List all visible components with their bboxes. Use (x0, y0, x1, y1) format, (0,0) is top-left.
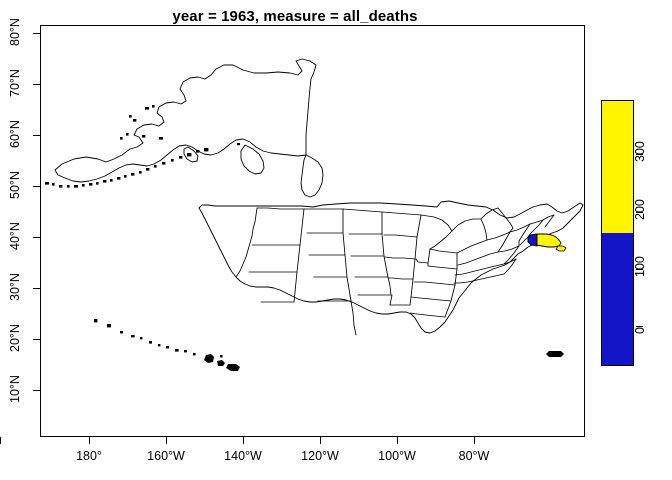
y-tick-mark (33, 390, 40, 391)
puerto-rico (546, 351, 564, 357)
legend-tick-label: 100 (633, 247, 647, 277)
x-tick-label: 120°W (301, 449, 339, 463)
legend-tick-label: 0 (633, 304, 647, 334)
state-boundaries (236, 208, 554, 335)
us-map (40, 25, 585, 437)
x-tick-mark (320, 437, 321, 444)
y-tick-label: 70°N (8, 68, 22, 98)
x-tick-mark (397, 437, 398, 444)
y-tick-label: 60°N (8, 119, 22, 149)
y-tick-label: 80°N (8, 17, 22, 47)
x-tick-mark (474, 437, 475, 444)
x-tick-mark (166, 437, 167, 444)
y-tick-mark (33, 237, 40, 238)
y-tick-label: 50°N (8, 170, 22, 200)
x-tick-label: 180° (76, 449, 102, 463)
y-tick-mark (33, 84, 40, 85)
y-tick-label: 10°N (8, 374, 22, 404)
color-legend[interactable] (601, 100, 634, 366)
x-tick-label: 100°W (378, 449, 416, 463)
x-tick-label: 80°W (459, 449, 490, 463)
x-tick-label: 160°W (147, 449, 185, 463)
x-tick-mark (243, 437, 244, 444)
x-tick-label: 140°W (224, 449, 262, 463)
y-tick-mark (33, 339, 40, 340)
y-tick-label: 20°N (8, 323, 22, 353)
cape-cod-fill[interactable] (556, 246, 566, 251)
y-tick-label: 30°N (8, 272, 22, 302)
alaska-outline (55, 59, 323, 197)
legend-band-high (602, 101, 633, 233)
massachusetts-fill-low[interactable] (528, 234, 537, 246)
massachusetts-region[interactable] (528, 234, 566, 251)
y-tick-mark (33, 186, 40, 187)
y-tick-mark (33, 33, 40, 34)
chart-root: year = 1963, measure = all_deaths 80°N 7… (0, 0, 672, 480)
continental-us-outline (199, 201, 583, 333)
x-tick-mark (89, 437, 90, 444)
y-tick-label: 40°N (8, 221, 22, 251)
y-tick-mark (33, 135, 40, 136)
legend-band-low (602, 233, 633, 366)
y-tick-mark (33, 288, 40, 289)
legend-tick-label: 300 (633, 132, 647, 162)
legend-tick-label: 200 (633, 190, 647, 220)
hawaii-islands (94, 319, 240, 371)
aleutian-islands (45, 105, 240, 188)
chart-title: year = 1963, measure = all_deaths (0, 8, 590, 25)
